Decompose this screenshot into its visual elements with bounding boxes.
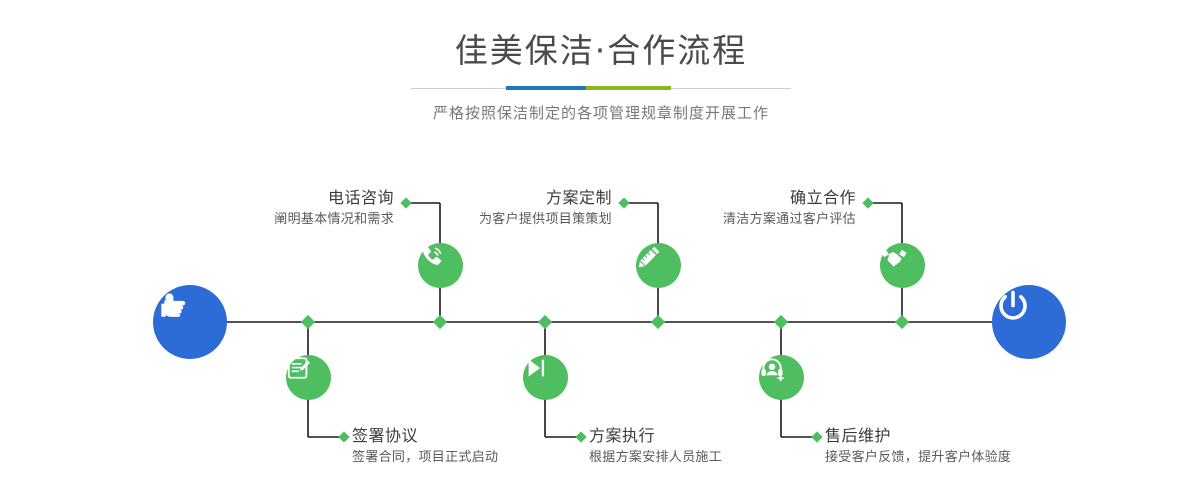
axis-diamond-2 [433, 315, 447, 329]
step-label-bottom-1: 签署协议 签署合同，项目正式启动 [352, 425, 498, 469]
headset-support-icon [759, 355, 786, 382]
step-icon-confirm-cooperation[interactable] [880, 243, 925, 288]
step-title: 签署协议 [352, 425, 498, 447]
step-title: 确立合作 [723, 187, 856, 209]
step-desc: 根据方案安排人员施工 [589, 447, 722, 469]
step-desc: 阐明基本情况和需求 [274, 209, 394, 231]
label-diamond-bottom-2 [575, 431, 586, 442]
step-desc: 清洁方案通过客户评估 [723, 209, 856, 231]
step-icon-execute-plan[interactable] [523, 355, 568, 400]
axis-diamond-1 [301, 315, 315, 329]
play-execute-icon [523, 355, 549, 381]
axis-diamond-6 [895, 315, 909, 329]
step-icon-phone-consult[interactable] [418, 243, 463, 288]
step-title: 电话咨询 [274, 187, 394, 209]
label-diamond-top-1 [400, 197, 411, 208]
step-label-bottom-3: 售后维护 接受客户反馈，提升客户体验度 [825, 425, 1011, 469]
axis-diamond-3 [538, 315, 552, 329]
phone-call-icon [418, 243, 445, 270]
document-edit-icon [286, 355, 312, 381]
step-icon-sign-agreement[interactable] [286, 355, 331, 400]
step-title: 售后维护 [825, 425, 1011, 447]
start-endpoint[interactable] [153, 285, 227, 359]
label-diamond-bottom-1 [338, 431, 349, 442]
step-icon-plan-design[interactable] [636, 243, 681, 288]
end-endpoint[interactable] [992, 285, 1066, 359]
step-icon-after-sales[interactable] [759, 355, 804, 400]
step-desc: 为客户提供项目策策划 [479, 209, 612, 231]
step-label-top-3: 确立合作 清洁方案通过客户评估 [723, 187, 856, 231]
label-diamond-top-3 [862, 197, 873, 208]
label-diamond-markers [338, 197, 873, 442]
timeline-diagram: 电话咨询 阐明基本情况和需求 方案定制 为客户提供项目策策划 确立合作 清洁方案… [0, 0, 1202, 502]
process-flow-infographic: 佳美保洁·合作流程 严格按照保洁制定的各项管理规章制度开展工作 [0, 0, 1202, 502]
step-desc: 签署合同，项目正式启动 [352, 447, 498, 469]
power-icon [992, 285, 1034, 327]
step-title: 方案执行 [589, 425, 722, 447]
step-label-top-2: 方案定制 为客户提供项目策策划 [479, 187, 612, 231]
step-label-bottom-2: 方案执行 根据方案安排人员施工 [589, 425, 722, 469]
label-diamond-bottom-3 [811, 431, 822, 442]
axis-diamond-4 [651, 315, 665, 329]
step-title: 方案定制 [479, 187, 612, 209]
axis-diamond-5 [774, 315, 788, 329]
handshake-icon [880, 243, 908, 271]
step-label-top-1: 电话咨询 阐明基本情况和需求 [274, 187, 394, 231]
label-diamond-top-2 [618, 197, 629, 208]
step-desc: 接受客户反馈，提升客户体验度 [825, 447, 1011, 469]
pencil-ruler-icon [636, 243, 663, 270]
pointing-hand-icon [153, 285, 193, 325]
